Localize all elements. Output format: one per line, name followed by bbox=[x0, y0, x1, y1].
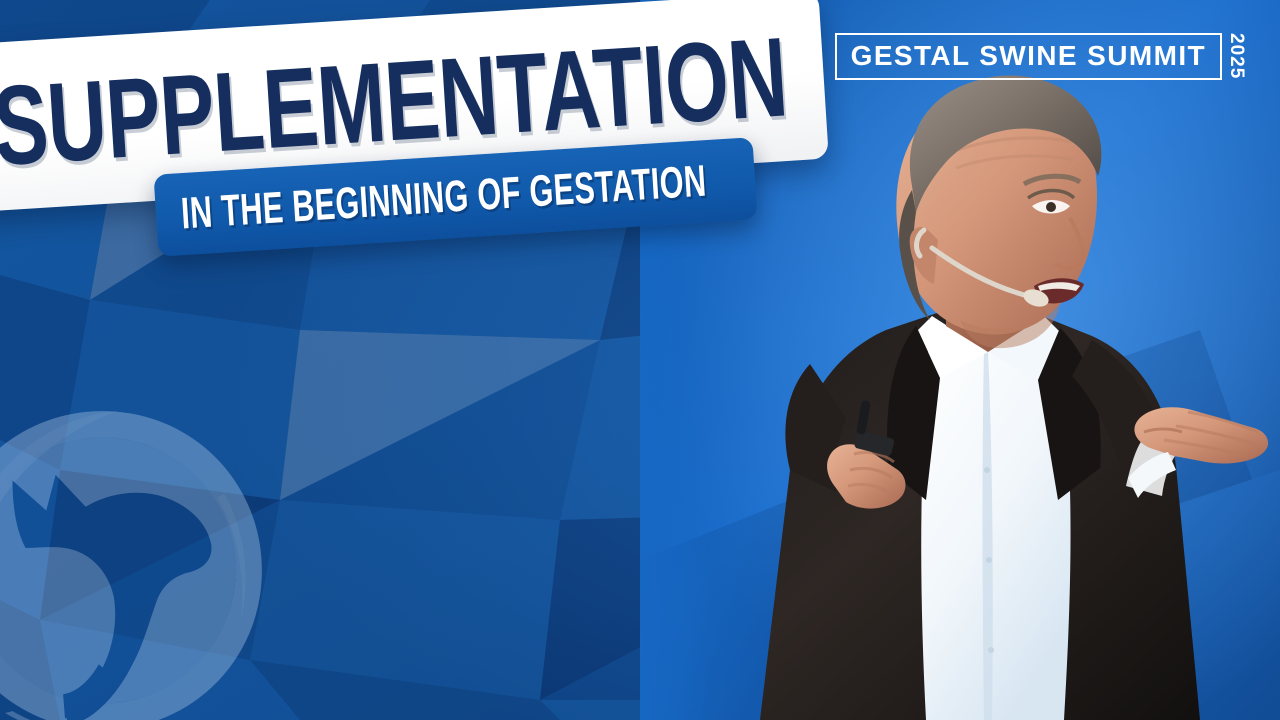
event-logo-box: GESTAL SWINE SUMMIT bbox=[835, 33, 1222, 80]
page-subtitle: IN THE BEGINNING OF GESTATION bbox=[155, 159, 708, 238]
event-logo-name: GESTAL SWINE SUMMIT bbox=[851, 42, 1206, 70]
event-logo-year: 2025 bbox=[1227, 33, 1246, 80]
slide-canvas: SUPPLEMENTATION IN THE BEGINNING OF GEST… bbox=[0, 0, 1280, 720]
event-logo: GESTAL SWINE SUMMIT 2025 bbox=[835, 33, 1246, 80]
